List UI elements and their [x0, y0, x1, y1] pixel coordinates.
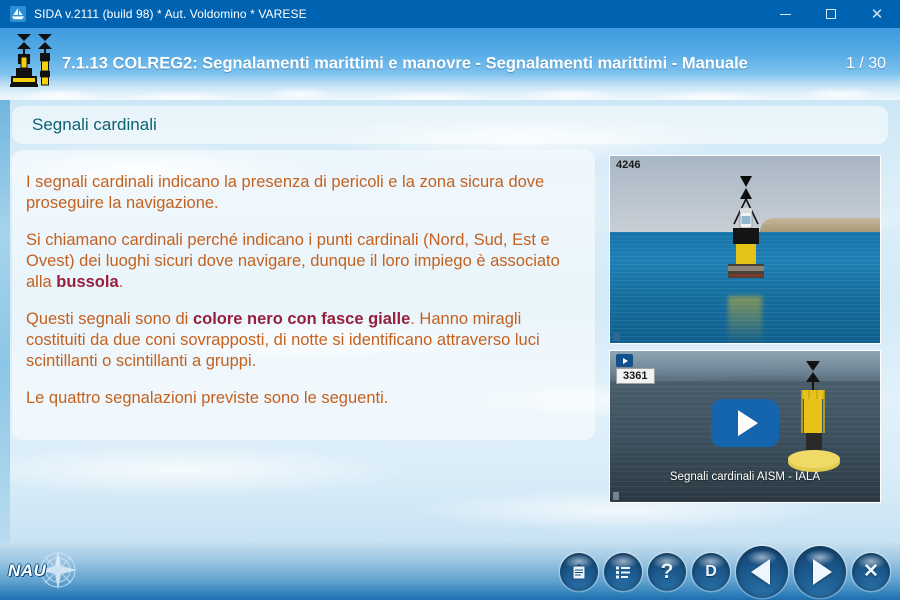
- previous-button[interactable]: [736, 546, 788, 598]
- next-button[interactable]: [794, 546, 846, 598]
- section-title-panel: Segnali cardinali: [12, 106, 888, 144]
- lesson-paragraph: Le quattro segnalazioni previste sono le…: [26, 388, 577, 409]
- play-button[interactable]: [711, 399, 779, 447]
- lesson-text-panel: I segnali cardinali indicano la presenza…: [12, 150, 595, 440]
- list-icon: [613, 562, 633, 582]
- dictionary-button[interactable]: D: [692, 553, 730, 591]
- photo-label: 4246: [616, 159, 640, 171]
- help-button[interactable]: ?: [648, 553, 686, 591]
- window-title: SIDA v.2111 (build 98) * Aut. Voldomino …: [34, 7, 307, 21]
- lesson-paragraph: Questi segnali sono di colore nero con f…: [26, 309, 577, 372]
- highlighted-term: colore nero con fasce gialle: [193, 310, 410, 328]
- lesson-banner: 7.1.13 COLREG2: Segnalamenti marittimi e…: [0, 28, 900, 100]
- stage-left-edge: [0, 100, 10, 543]
- footer-toolbar: NAU ?: [0, 543, 900, 600]
- page-indicator: 1 / 30: [846, 55, 886, 73]
- maximize-button[interactable]: [808, 0, 854, 28]
- window-controls: ✕: [762, 0, 900, 28]
- nau-logo-text: NAU: [8, 561, 46, 581]
- cloud-decoration: [0, 74, 900, 100]
- lesson-paragraph: Si chiamano cardinali perché indicano i …: [26, 230, 577, 293]
- photo-cardinal-buoy: [718, 174, 774, 286]
- photo-shoreline: [760, 218, 881, 232]
- minimize-button[interactable]: [762, 0, 808, 28]
- navigation-toolbar: ? D ✕: [560, 546, 890, 598]
- window-title-bar: SIDA v.2111 (build 98) * Aut. Voldomino …: [0, 0, 900, 28]
- video-label: 3361: [616, 368, 655, 384]
- sailboat-icon: [10, 6, 26, 22]
- lesson-title: 7.1.13 COLREG2: Segnalamenti marittimi e…: [62, 55, 748, 74]
- notes-button[interactable]: [560, 553, 598, 591]
- buoy-photo[interactable]: 4246: [609, 155, 881, 344]
- index-button[interactable]: [604, 553, 642, 591]
- cardinal-buoys-icon: [8, 32, 58, 100]
- close-button[interactable]: ✕: [854, 0, 900, 28]
- application-window: SIDA v.2111 (build 98) * Aut. Voldomino …: [0, 0, 900, 600]
- highlighted-term: bussola: [56, 273, 118, 291]
- video-caption: Segnali cardinali AISM - IALA: [610, 471, 880, 483]
- nau-logo: NAU: [6, 552, 92, 592]
- triangle-right-icon: [813, 559, 832, 585]
- section-title: Segnali cardinali: [32, 115, 157, 135]
- minimize-icon: [780, 14, 791, 15]
- x-icon: ✕: [863, 562, 879, 581]
- lesson-paragraph: I segnali cardinali indicano la presenza…: [26, 172, 577, 214]
- question-mark-icon: ?: [661, 561, 674, 582]
- video-thumbnail[interactable]: Segnali cardinali AISM - IALA 3361: [609, 350, 881, 503]
- maximize-icon: [826, 9, 836, 19]
- document-icon: [569, 562, 589, 582]
- play-icon: [738, 410, 758, 436]
- video-cardinal-buoy: [778, 359, 848, 487]
- triangle-left-icon: [751, 559, 770, 585]
- close-icon: ✕: [871, 7, 884, 22]
- video-corner-marker: [613, 492, 619, 500]
- photo-corner-marker: [613, 333, 620, 341]
- exit-button[interactable]: ✕: [852, 553, 890, 591]
- letter-d-icon: D: [705, 563, 717, 581]
- video-badge-icon: [616, 354, 633, 367]
- photo-reflection: [728, 296, 762, 344]
